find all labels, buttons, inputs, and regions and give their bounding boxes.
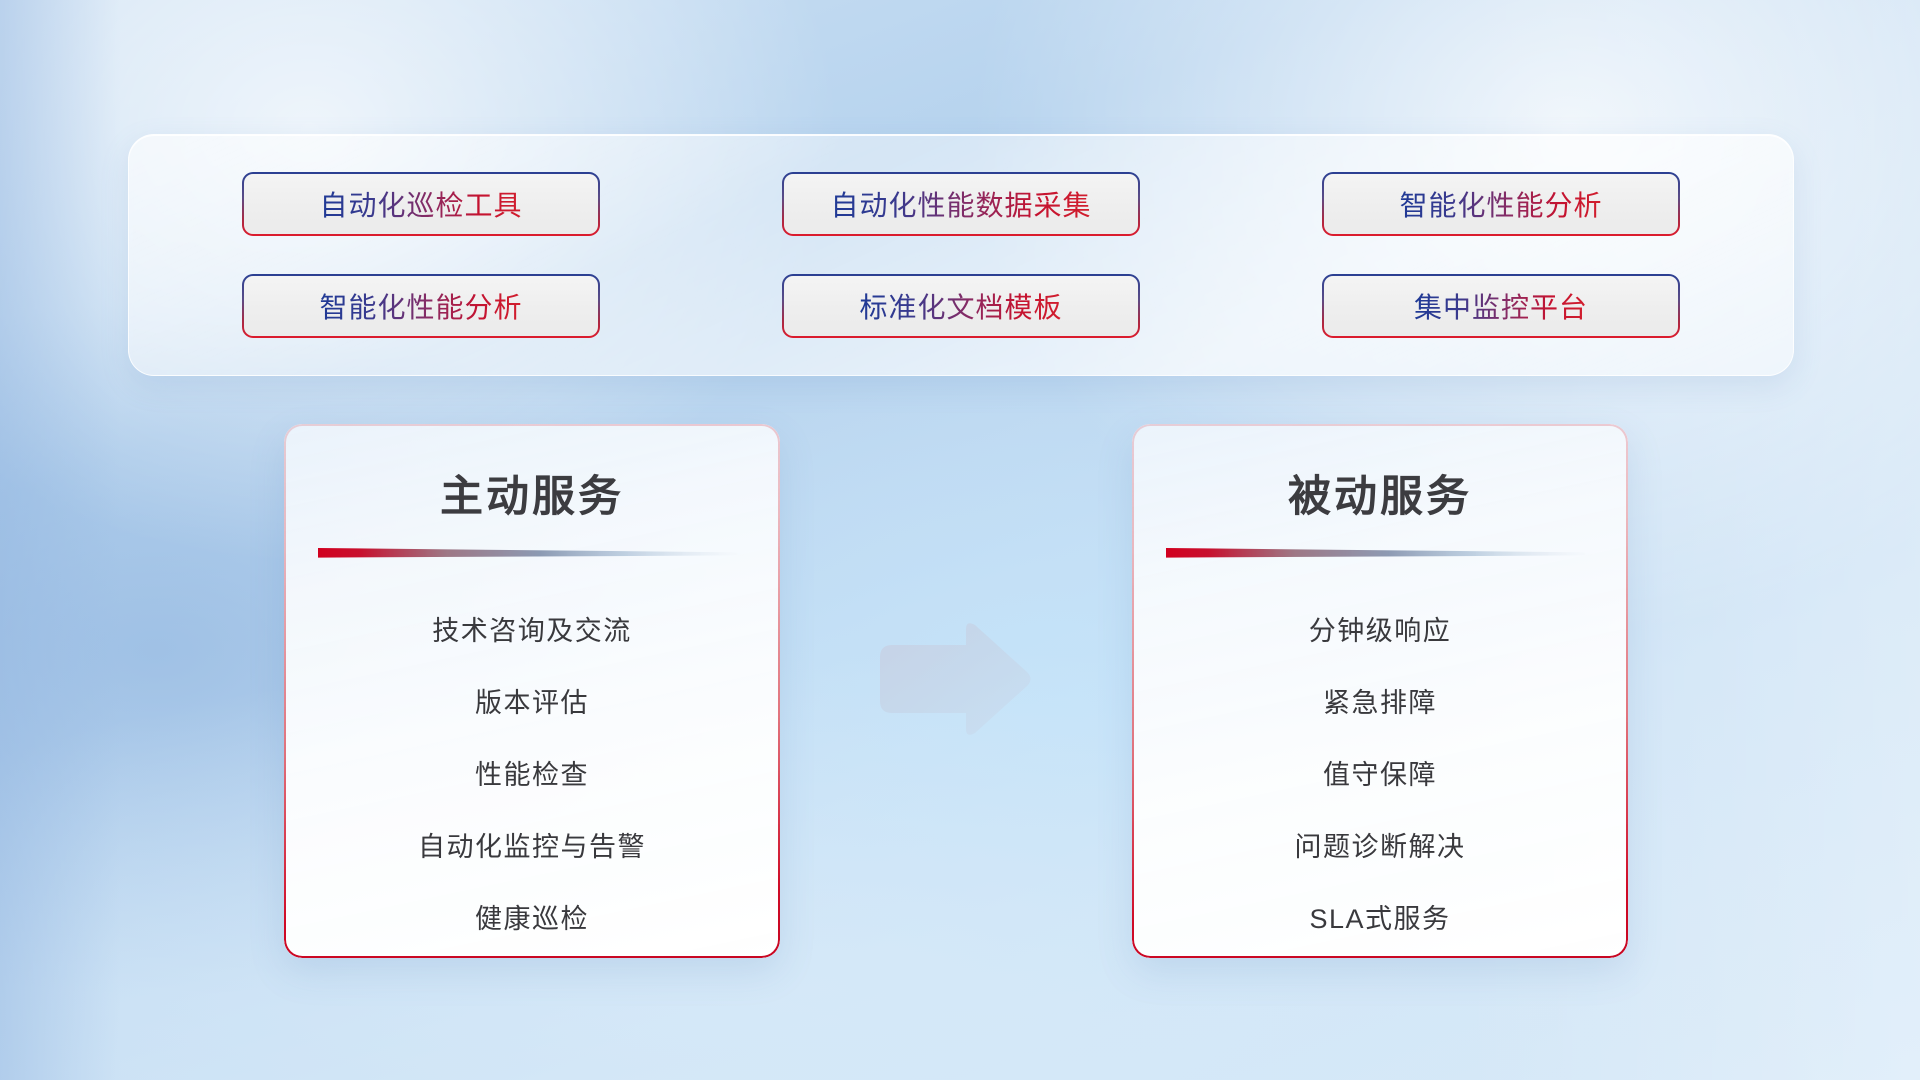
service-card-reactive: 被动服务 分钟级响应 紧急排障 值守保障 问题诊断解决 SLA式服务 (1132, 424, 1628, 958)
list-item: 紧急排障 (1323, 664, 1437, 736)
capability-tag-label: 自动化巡检工具 (319, 184, 522, 224)
list-item: 自动化监控与告警 (418, 808, 646, 880)
title-underline-accent (318, 546, 746, 560)
capability-tag[interactable]: 集中监控平台 (1322, 274, 1680, 338)
capability-tag-label: 智能化性能分析 (1399, 184, 1602, 224)
capability-tag[interactable]: 自动化巡检工具 (242, 172, 600, 236)
list-item: 分钟级响应 (1309, 592, 1452, 664)
capability-panel: 自动化巡检工具 自动化性能数据采集 智能化性能分析 智能化性能分析 标准化文档模… (128, 134, 1794, 376)
arrow-right-icon (874, 620, 1034, 738)
capability-tag-label: 集中监控平台 (1414, 286, 1588, 326)
capability-tag-grid: 自动化巡检工具 自动化性能数据采集 智能化性能分析 智能化性能分析 标准化文档模… (129, 135, 1793, 375)
service-card-proactive: 主动服务 技术咨询及交流 版本评估 性能检查 自动化监控与告警 健康巡检 (284, 424, 780, 958)
capability-tag[interactable]: 自动化性能数据采集 (782, 172, 1140, 236)
capability-tag-surface: 智能化性能分析 (1324, 174, 1678, 234)
list-item: 版本评估 (475, 664, 589, 736)
capability-tag-surface: 标准化文档模板 (784, 276, 1138, 336)
list-item: SLA式服务 (1309, 880, 1450, 952)
list-item: 值守保障 (1323, 736, 1437, 808)
service-card-title: 主动服务 (284, 462, 780, 524)
capability-tag-label: 自动化性能数据采集 (830, 184, 1091, 224)
capability-tag-surface: 集中监控平台 (1324, 276, 1678, 336)
service-card-title: 被动服务 (1132, 462, 1628, 524)
list-item: 性能检查 (475, 736, 589, 808)
capability-tag-label: 标准化文档模板 (859, 286, 1062, 326)
capability-tag[interactable]: 智能化性能分析 (242, 274, 600, 338)
capability-tag-surface: 自动化巡检工具 (244, 174, 598, 234)
list-item: 技术咨询及交流 (432, 592, 632, 664)
list-item: 问题诊断解决 (1295, 808, 1466, 880)
service-card-list: 分钟级响应 紧急排障 值守保障 问题诊断解决 SLA式服务 (1132, 592, 1628, 952)
capability-tag-surface: 自动化性能数据采集 (784, 174, 1138, 234)
service-card-list: 技术咨询及交流 版本评估 性能检查 自动化监控与告警 健康巡检 (284, 592, 780, 952)
background-left-edge-shade (0, 0, 120, 1080)
capability-tag[interactable]: 标准化文档模板 (782, 274, 1140, 338)
capability-tag[interactable]: 智能化性能分析 (1322, 172, 1680, 236)
list-item: 健康巡检 (475, 880, 589, 952)
capability-tag-label: 智能化性能分析 (319, 286, 522, 326)
title-underline-accent (1166, 546, 1594, 560)
capability-tag-surface: 智能化性能分析 (244, 276, 598, 336)
